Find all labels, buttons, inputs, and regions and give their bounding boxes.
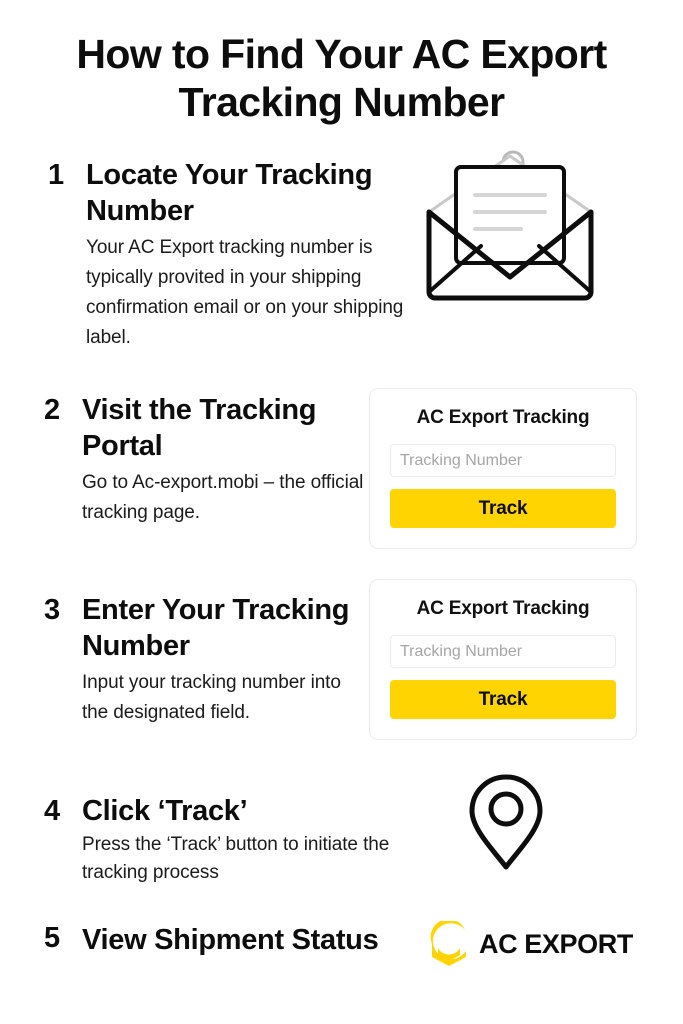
step-number: 4	[44, 793, 82, 829]
tracking-number-input[interactable]	[390, 444, 616, 477]
brand-name: AC EXPORT	[479, 929, 633, 960]
step-body: Click ‘Track’ Press the ‘Track’ button t…	[82, 793, 454, 887]
tracking-card-title: AC Export Tracking	[390, 598, 616, 620]
step-heading: Visit the Tracking Portal	[82, 392, 364, 464]
step-number: 3	[44, 592, 82, 628]
tracking-card: AC Export Tracking Track	[369, 579, 637, 740]
step-body: View Shipment Status	[82, 920, 464, 960]
step-item-5: 5 View Shipment Status	[44, 920, 464, 960]
tracking-card: AC Export Tracking Track	[369, 388, 637, 549]
step-number: 2	[44, 392, 82, 428]
step-item-2: 2 Visit the Tracking Portal Go to Ac-exp…	[44, 392, 364, 528]
track-button[interactable]: Track	[390, 489, 616, 528]
step-description: Press the ‘Track’ button to initiate the…	[82, 831, 454, 887]
step-description: Go to Ac-export.mobi – the official trac…	[82, 468, 364, 528]
step-number: 5	[44, 920, 82, 956]
step-heading: Enter Your Tracking Number	[82, 592, 369, 664]
step-description: Input your tracking number into the desi…	[82, 668, 369, 728]
tracking-number-input[interactable]	[390, 635, 616, 668]
track-button[interactable]: Track	[390, 680, 616, 719]
step-item-1: 1 Locate Your Tracking Number Your AC Ex…	[48, 157, 423, 353]
step-item-4: 4 Click ‘Track’ Press the ‘Track’ button…	[44, 793, 454, 887]
step-number: 1	[48, 157, 86, 193]
ac-export-c-mark-icon	[428, 921, 470, 967]
step-item-3: 3 Enter Your Tracking Number Input your …	[44, 592, 369, 728]
step-description: Your AC Export tracking number is typica…	[86, 233, 423, 353]
envelope-icon	[415, 140, 605, 310]
step-heading: View Shipment Status	[82, 920, 464, 960]
step-body: Locate Your Tracking Number Your AC Expo…	[86, 157, 423, 353]
brand-logo: AC EXPORT	[428, 921, 633, 967]
step-heading: Locate Your Tracking Number	[86, 157, 423, 229]
step-body: Visit the Tracking Portal Go to Ac-expor…	[82, 392, 364, 528]
step-body: Enter Your Tracking Number Input your tr…	[82, 592, 369, 728]
tracking-card-title: AC Export Tracking	[390, 407, 616, 429]
map-pin-icon	[466, 772, 546, 872]
page-title: How to Find Your AC Export Tracking Numb…	[0, 30, 683, 126]
step-heading: Click ‘Track’	[82, 793, 454, 829]
